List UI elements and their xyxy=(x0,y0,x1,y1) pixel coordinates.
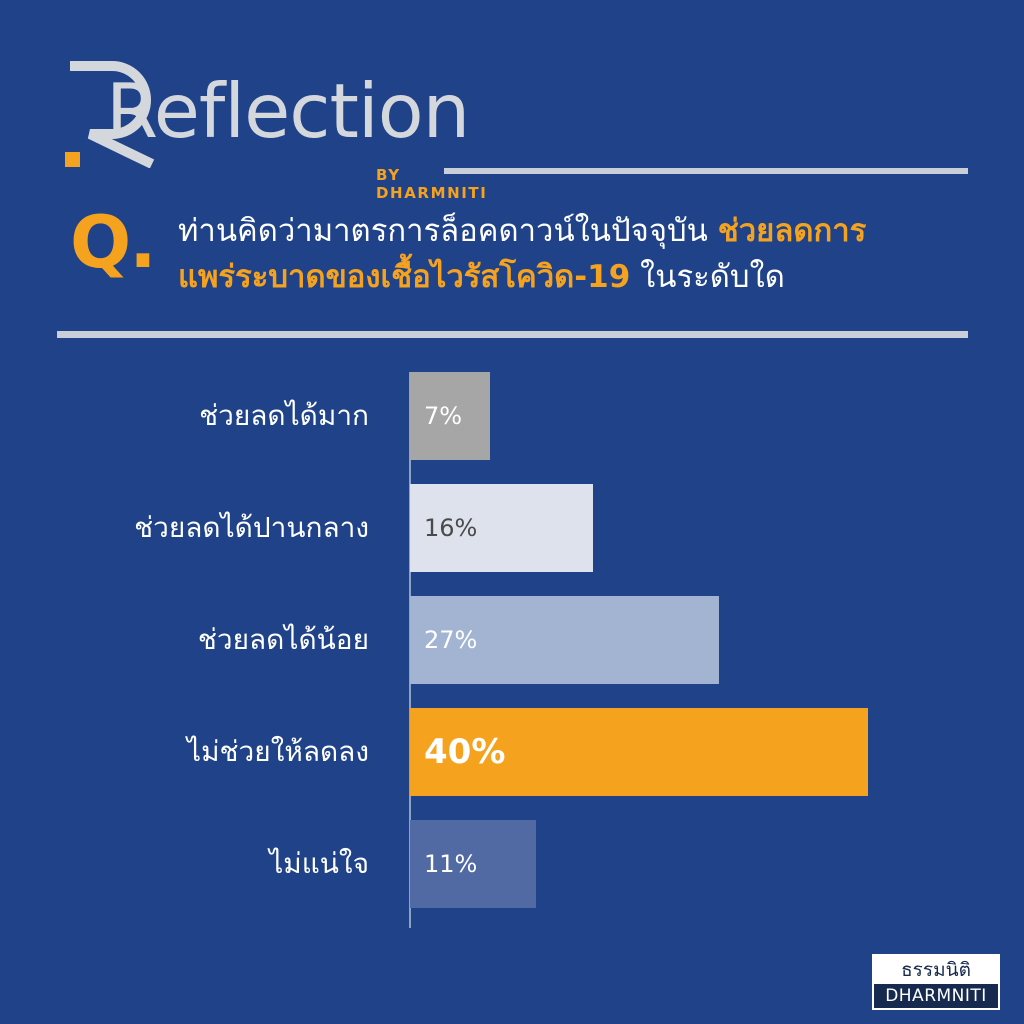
chart-bar: 7% xyxy=(410,372,490,460)
chart-bar: 27% xyxy=(410,596,719,684)
chart-row: ช่วยลดได้ปานกลาง16% xyxy=(0,484,1024,572)
chart-bar: 11% xyxy=(410,820,536,908)
brand-dot-icon xyxy=(65,152,80,167)
chart-category-label: ไม่แน่ใจ xyxy=(269,820,369,908)
question-line1-highlight: ช่วยลดการ xyxy=(718,213,867,249)
chart-category-label: ช่วยลดได้น้อย xyxy=(198,596,369,684)
chart-row: ช่วยลดได้มาก7% xyxy=(0,372,1024,460)
chart-bar-value: 40% xyxy=(424,732,505,772)
question-marker: Q. xyxy=(70,206,155,278)
chart-category-label: ช่วยลดได้ปานกลาง xyxy=(134,484,369,572)
brand-wordmark: Reflection xyxy=(106,74,469,149)
chart-row: ช่วยลดได้น้อย27% xyxy=(0,596,1024,684)
chart-bar-value: 27% xyxy=(424,626,477,654)
badge-thai-label: ธรรมนิติ xyxy=(874,956,998,984)
chart-category-label: ช่วยลดได้มาก xyxy=(199,372,369,460)
chart-row: ไม่ช่วยให้ลดลง40% xyxy=(0,708,1024,796)
badge-latin-label: DHARMNITI xyxy=(874,984,998,1008)
question-line1-plain: ท่านคิดว่ามาตรการล็อคดาวน์ในปัจจุบัน xyxy=(178,213,718,249)
infographic-poster: Reflection BY DHARMNITI Q. ท่านคิดว่ามาต… xyxy=(0,0,1024,1024)
brand-logo: Reflection BY DHARMNITI xyxy=(58,56,478,181)
chart-bar: 16% xyxy=(410,484,593,572)
section-divider xyxy=(57,331,968,338)
question-line2-plain: ในระดับใด xyxy=(630,259,785,295)
dharmniti-badge: ธรรมนิติ DHARMNITI xyxy=(872,954,1000,1010)
chart-bar-value: 11% xyxy=(424,850,477,878)
chart-bar: 40% xyxy=(410,708,868,796)
question-line2-highlight: แพร่ระบาดของเชื้อไวรัสโควิด-19 xyxy=(178,259,630,295)
question-text: ท่านคิดว่ามาตรการล็อคดาวน์ในปัจจุบัน ช่ว… xyxy=(178,208,968,300)
chart-row: ไม่แน่ใจ11% xyxy=(0,820,1024,908)
header-divider xyxy=(444,168,968,174)
chart-category-label: ไม่ช่วยให้ลดลง xyxy=(187,708,369,796)
chart-bar-value: 7% xyxy=(424,402,462,430)
bar-chart: ช่วยลดได้มาก7%ช่วยลดได้ปานกลาง16%ช่วยลดไ… xyxy=(0,372,1024,932)
chart-bar-value: 16% xyxy=(424,514,477,542)
